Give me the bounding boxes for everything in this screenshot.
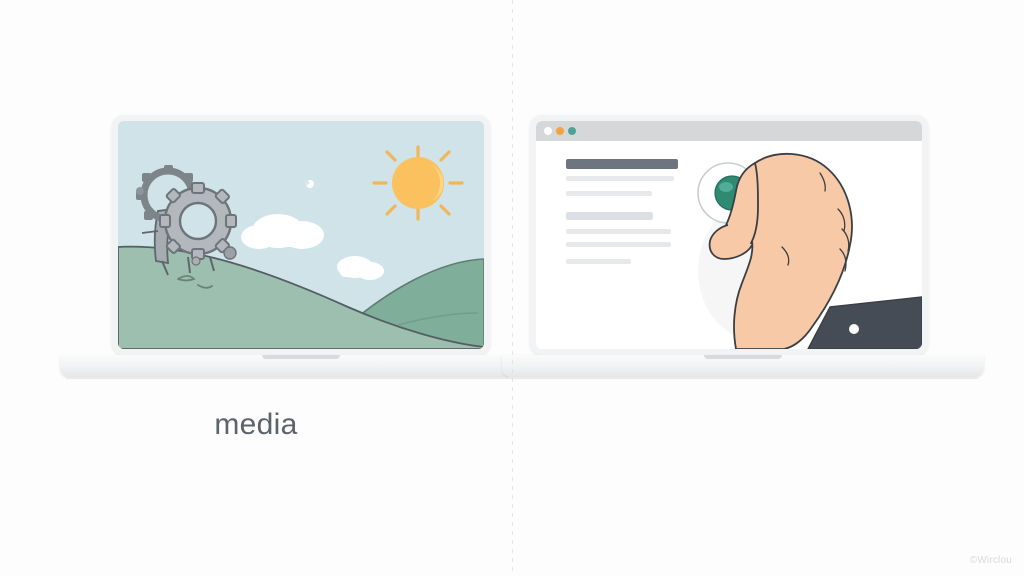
gear-large: [160, 183, 236, 259]
browser-window: [536, 121, 922, 349]
pebble-c: [192, 257, 200, 265]
comparison-figure: media: [0, 0, 1024, 576]
nature-illustration: [118, 121, 484, 349]
watermark: ©Wirclou: [970, 555, 1012, 566]
laptop-base-media: [60, 355, 542, 377]
hand-and-marble-svg: [536, 121, 922, 349]
panel-divider: [512, 0, 513, 576]
panel-media: media: [0, 0, 512, 576]
panel-class: class: [512, 0, 1024, 576]
laptop-base-class: [502, 355, 984, 377]
laptop-lid-media: [112, 115, 490, 355]
cuff-button: [849, 324, 859, 334]
marble-highlight: [719, 182, 733, 192]
laptop-base-shadow-media: [66, 377, 536, 379]
laptop-base-shadow-class: [508, 377, 978, 379]
laptop-screen-media: [118, 121, 484, 349]
pebble-b: [224, 247, 236, 259]
pebble-a: [136, 187, 144, 195]
nature-illustration-svg: [118, 121, 484, 349]
laptop-lid-class: [530, 115, 928, 355]
laptop-screen-class: [536, 121, 922, 349]
caption-media: media: [0, 408, 512, 442]
